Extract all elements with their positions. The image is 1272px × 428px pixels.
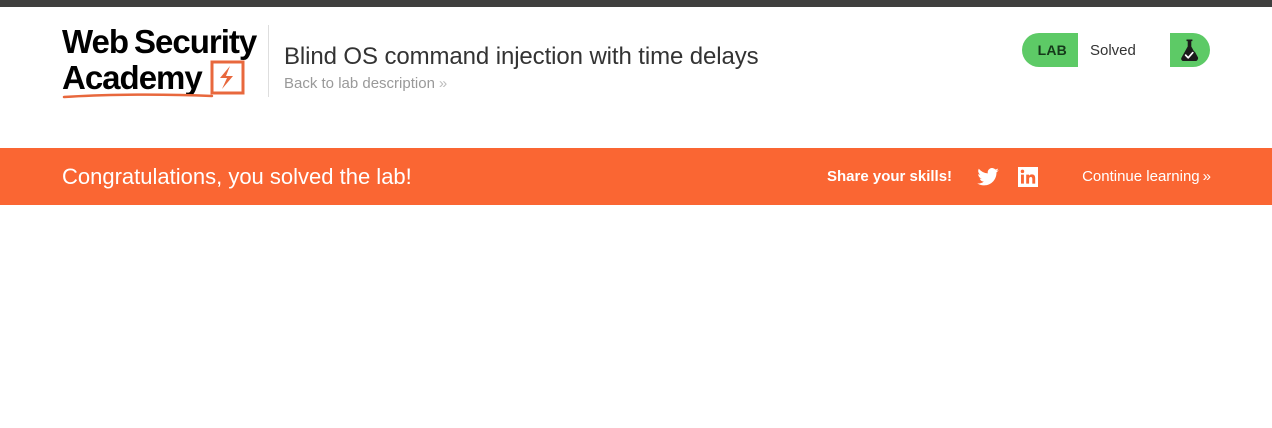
lab-status-value: Solved [1078,33,1170,67]
congratulations-text: Congratulations, you solved the lab! [62,164,412,190]
back-to-lab-description-link[interactable]: Back to lab description» [284,73,446,95]
svg-text:Security: Security [134,23,258,60]
continue-learning-link[interactable]: Continue learning» [1082,168,1210,185]
site-header: Web Security Academy Blind OS command in… [0,7,1272,148]
lab-solved-banner: Congratulations, you solved the lab! Sha… [0,148,1272,205]
continue-learning-label: Continue learning [1082,168,1200,185]
banner-actions: Share your skills! Continue learning» [827,148,1210,205]
svg-text:Academy: Academy [62,59,203,96]
page-content: Home Submit feedback Submit feedback Nam… [0,205,1272,428]
header-divider [268,25,269,97]
share-your-skills-label: Share your skills! [827,168,952,185]
linkedin-icon[interactable] [1014,165,1042,189]
lab-status-widget[interactable]: LAB Solved [1022,33,1210,67]
svg-text:Web: Web [62,23,128,60]
top-accent-bar [0,0,1272,7]
twitter-icon[interactable] [974,165,1002,189]
chevron-right-icon: » [439,75,446,92]
chevron-right-icon: » [1203,168,1210,185]
page-title: Blind OS command injection with time del… [284,42,759,72]
back-link-label: Back to lab description [284,75,435,92]
web-security-academy-logo[interactable]: Web Security Academy [62,21,267,101]
logo-svg: Web Security Academy [62,21,267,103]
flask-check-icon [1170,33,1210,67]
lab-status-tag: LAB [1022,33,1078,67]
